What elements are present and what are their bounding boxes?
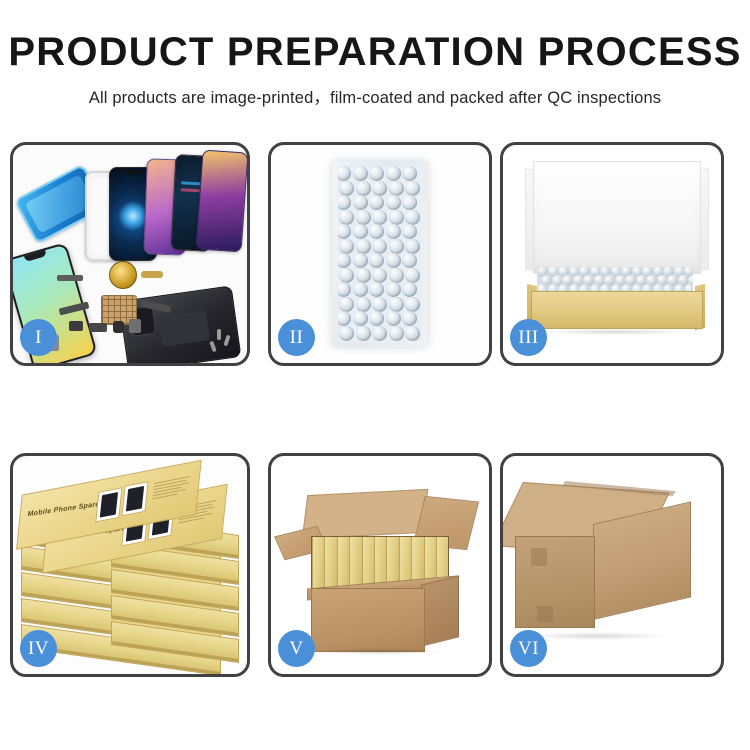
phone-amber-gradient-icon (196, 150, 247, 253)
carton-front-face (311, 588, 425, 652)
bubble (339, 326, 354, 341)
bubble (353, 166, 368, 181)
flex-gold-icon (141, 271, 163, 278)
bubble (372, 181, 387, 196)
bubble (402, 282, 417, 297)
carton-hand-hole-top (531, 548, 547, 566)
bubble (372, 297, 387, 312)
step-panel-4[interactable]: Mobile Phone Spare Parts (10, 453, 250, 677)
sim-tray-icon (129, 319, 141, 333)
bubble (372, 326, 387, 341)
screwdriver-icon (217, 329, 221, 340)
bubble (338, 253, 351, 268)
bubble (369, 311, 384, 326)
bubble (389, 297, 404, 312)
box-bubble-fill-icon (537, 267, 693, 293)
bubble (353, 195, 368, 210)
bubble (339, 268, 354, 283)
bubble (402, 195, 417, 210)
step-badge-5: V (278, 630, 315, 667)
bubble-wrap-icon (332, 161, 428, 347)
bubble (386, 311, 401, 326)
bubble (386, 253, 401, 268)
bubble (356, 239, 371, 254)
kraft-box-body-icon (531, 291, 703, 329)
step-panel-6[interactable]: VI (500, 453, 724, 677)
steps-grid: I II III (10, 142, 740, 677)
bubble (338, 166, 351, 181)
step-panel-1[interactable]: I (10, 142, 250, 366)
bubble (356, 268, 371, 283)
bubble (405, 268, 420, 283)
box-window-left (95, 487, 122, 522)
bubble (353, 224, 368, 239)
bubble (386, 224, 401, 239)
step-badge-3: III (510, 319, 547, 356)
bubble (405, 210, 420, 225)
bubble (353, 253, 368, 268)
bubble (338, 311, 351, 326)
bubble (402, 253, 417, 268)
bubble (386, 195, 401, 210)
box-white-lid-icon (533, 161, 701, 274)
taptic-icon (113, 321, 124, 333)
bubble (369, 253, 384, 268)
bubble (405, 326, 420, 341)
product-preparation-infographic: PRODUCT PREPARATION PROCESS All products… (0, 0, 750, 750)
step-badge-2: II (278, 319, 315, 356)
bubble (389, 326, 404, 341)
bubble (339, 239, 354, 254)
bubble (356, 297, 371, 312)
step-badge-1: I (20, 319, 57, 356)
bubble (402, 224, 417, 239)
step-badge-6: VI (510, 630, 547, 667)
bubble (369, 224, 384, 239)
bubble (402, 166, 417, 181)
bubble (369, 166, 384, 181)
bubble (405, 181, 420, 196)
bubble (405, 239, 420, 254)
bubble (356, 326, 371, 341)
carton-shadow (315, 648, 443, 655)
step-panel-5[interactable]: V (268, 453, 492, 677)
bubble (389, 181, 404, 196)
bubble (372, 268, 387, 283)
battery-connector-icon (57, 275, 83, 281)
bubble (339, 210, 354, 225)
box-window-right (121, 481, 148, 516)
step-panel-2[interactable]: II (268, 142, 492, 366)
sealed-carton-front-face (515, 536, 595, 628)
bubble (389, 210, 404, 225)
bubble (389, 268, 404, 283)
bubble (339, 181, 354, 196)
page-title: PRODUCT PREPARATION PROCESS (0, 30, 750, 75)
bubble (389, 239, 404, 254)
bubble (369, 195, 384, 210)
speaker-coil-icon (109, 261, 137, 289)
camera-module-icon (69, 321, 83, 331)
bubble (372, 210, 387, 225)
bubble (386, 282, 401, 297)
carton-back-flap (302, 489, 428, 539)
step-badge-4: IV (20, 630, 57, 667)
carton-side-face (421, 575, 459, 646)
bubble (338, 282, 351, 297)
bubble (353, 311, 368, 326)
bubble (356, 181, 371, 196)
bubble (338, 195, 351, 210)
bubble (369, 282, 384, 297)
bubble (356, 210, 371, 225)
bubble (372, 239, 387, 254)
sealed-carton-shadow (527, 632, 667, 640)
step-panel-3[interactable]: III (500, 142, 724, 366)
box-shadow (537, 329, 695, 335)
bubble (339, 297, 354, 312)
carton-hand-hole-bottom (537, 606, 553, 622)
bubble (386, 166, 401, 181)
bubble (353, 282, 368, 297)
bubble (402, 311, 417, 326)
vibrator-icon (89, 323, 107, 332)
bubble (338, 224, 351, 239)
bubble (405, 297, 420, 312)
page-subtitle: All products are image-printed，film-coat… (0, 84, 750, 108)
